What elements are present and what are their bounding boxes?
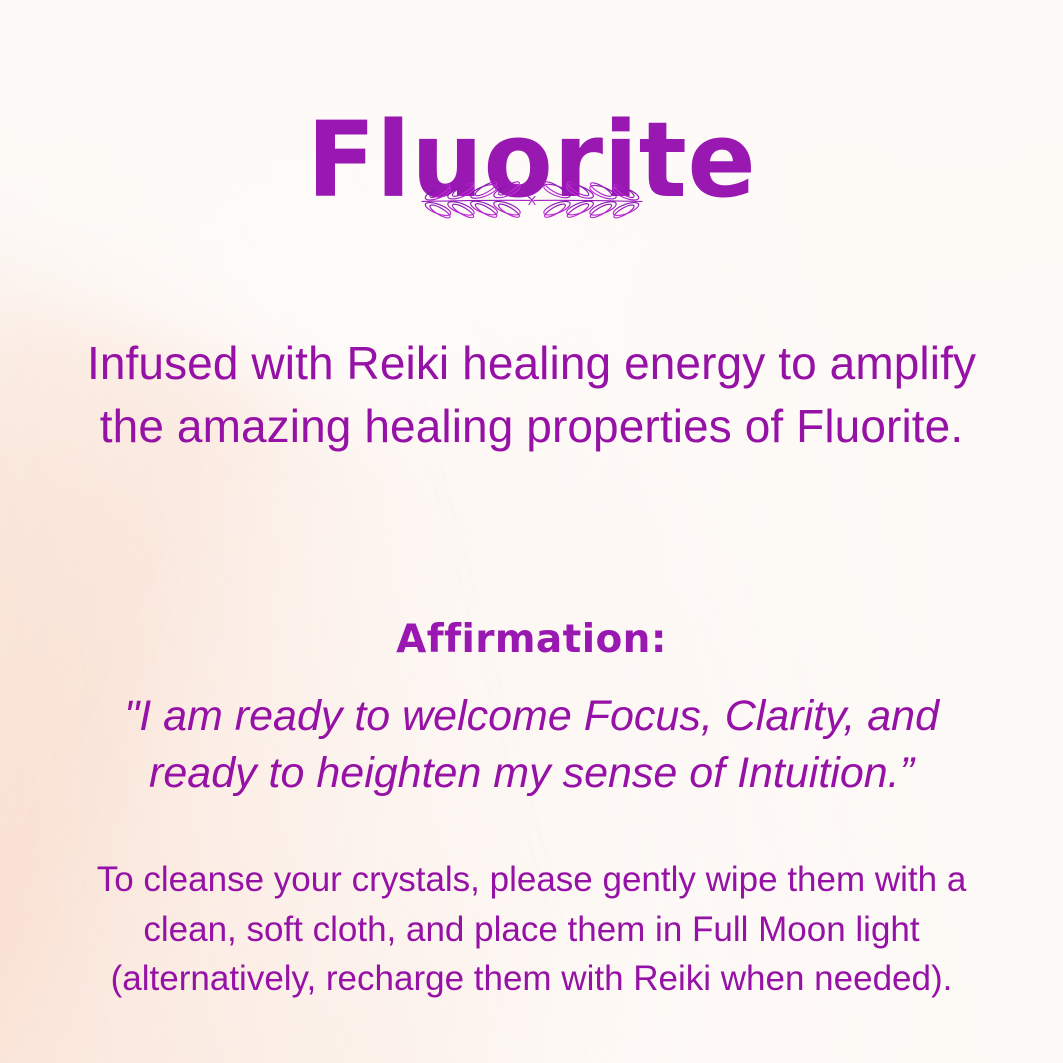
care-instructions: To cleanse your crystals, please gently …	[66, 855, 997, 1004]
intro-paragraph: Infused with Reiki healing energy to amp…	[66, 332, 997, 457]
affirmation-quote: "I am ready to welcome Focus, Clarity, a…	[70, 688, 993, 802]
card-content: Fluorite	[0, 0, 1063, 1063]
crystal-info-card: Fluorite	[0, 0, 1063, 1063]
divider	[0, 176, 1063, 229]
affirmation-heading: Affirmation:	[0, 617, 1063, 662]
laurel-branch-divider-icon	[416, 176, 648, 229]
